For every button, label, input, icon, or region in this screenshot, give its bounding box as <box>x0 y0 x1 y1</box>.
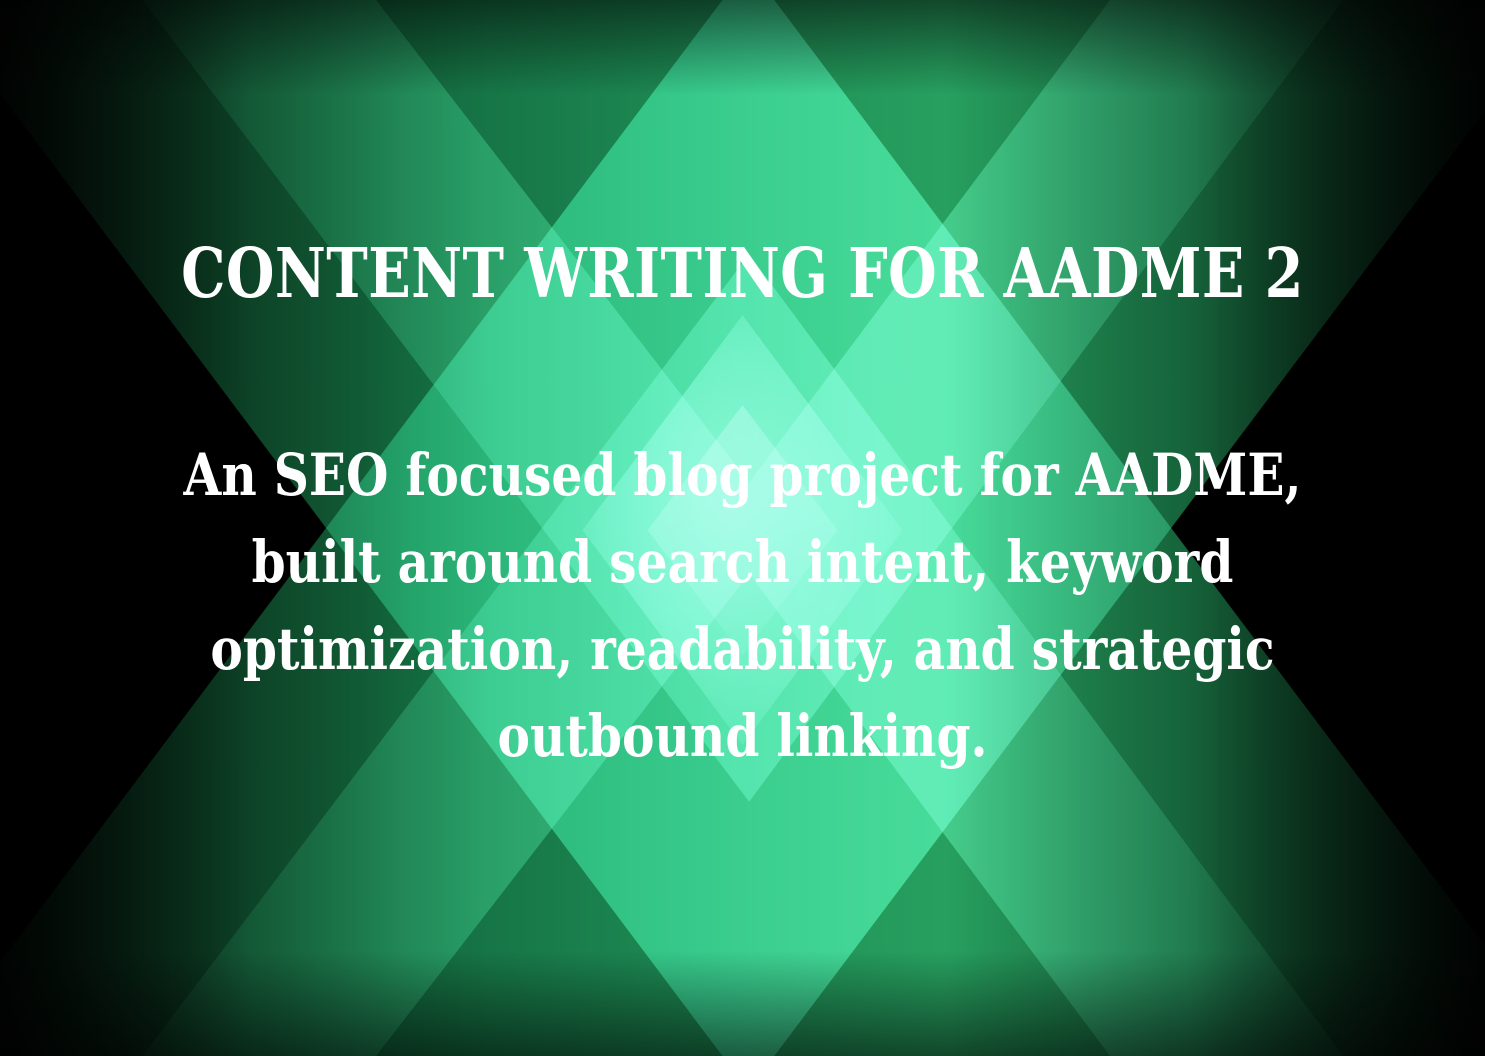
banner-headline: CONTENT WRITING FOR AADME 2 <box>134 240 1352 308</box>
description-line: An SEO focused blog project for AADME, <box>119 432 1366 519</box>
description-line: optimization, readability, and strategic <box>119 606 1366 693</box>
project-banner: CONTENT WRITING FOR AADME 2 An SEO focus… <box>0 0 1485 1056</box>
banner-description: An SEO focused blog project for AADME, b… <box>119 432 1366 780</box>
banner-content: CONTENT WRITING FOR AADME 2 An SEO focus… <box>0 0 1485 1056</box>
description-line: outbound linking. <box>119 693 1366 780</box>
description-line: built around search intent, keyword <box>119 519 1366 606</box>
